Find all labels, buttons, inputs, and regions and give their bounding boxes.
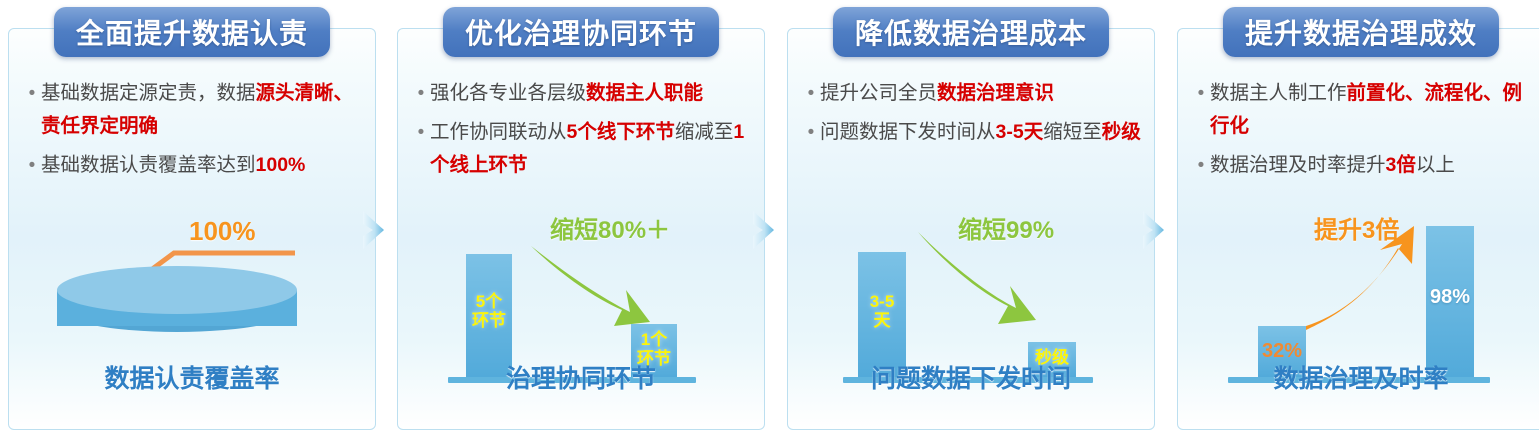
bullet-text: 基础数据定源定责，数据源头清晰、责任界定明确	[41, 77, 365, 143]
list-item: • 工作协同联动从5个线下环节缩减至1个线上环节	[412, 116, 754, 182]
list-item: • 数据治理及时率提升3倍以上	[1192, 149, 1534, 182]
bullet-dot-icon: •	[1192, 77, 1210, 110]
bullet-text: 基础数据认责覆盖率达到100%	[41, 149, 365, 182]
panel-3-chart: 3-5 天 秒级 缩短99%	[788, 204, 1154, 384]
panel-2: 优化治理协同环节 • 强化各专业各层级数据主人职能 • 工作协同联动从5个线下环…	[397, 28, 765, 430]
bullet-text: 数据主人制工作前置化、流程化、例行化	[1210, 77, 1534, 143]
chevron-right-icon-3	[1140, 208, 1170, 252]
bullet-text: 强化各专业各层级数据主人职能	[430, 77, 754, 110]
panel-4-title: 提升数据治理成效	[1223, 7, 1499, 57]
panel-4-foot-label: 数据治理及时率	[1178, 359, 1539, 395]
down-arrow-icon	[398, 204, 766, 384]
cylinder-top	[57, 266, 297, 314]
panel-1: 全面提升数据认责 • 基础数据定源定责，数据源头清晰、责任界定明确 • 基础数据…	[8, 28, 376, 430]
panel-1-foot-label: 数据认责覆盖率	[9, 359, 375, 395]
chevron-right-icon-1	[360, 208, 390, 252]
infographic-board: 全面提升数据认责 • 基础数据定源定责，数据源头清晰、责任界定明确 • 基础数据…	[0, 0, 1539, 440]
list-item: • 强化各专业各层级数据主人职能	[412, 77, 754, 110]
panel-3-title: 降低数据治理成本	[833, 7, 1109, 57]
bullet-dot-icon: •	[1192, 149, 1210, 182]
panel-1-title: 全面提升数据认责	[54, 7, 330, 57]
bullet-dot-icon: •	[802, 77, 820, 110]
list-item: • 提升公司全员数据治理意识	[802, 77, 1144, 110]
list-item: • 问题数据下发时间从3-5天缩短至秒级	[802, 116, 1144, 149]
panel-1-bullets: • 基础数据定源定责，数据源头清晰、责任界定明确 • 基础数据认责覆盖率达到10…	[23, 77, 365, 188]
list-item: • 数据主人制工作前置化、流程化、例行化	[1192, 77, 1534, 143]
panel-1-chart: 100%	[9, 204, 375, 384]
bullet-text: 工作协同联动从5个线下环节缩减至1个线上环节	[430, 116, 754, 182]
panel-4-chart: 32% 98% 提升3倍	[1178, 204, 1539, 384]
panel-4: 提升数据治理成效 • 数据主人制工作前置化、流程化、例行化 • 数据治理及时率提…	[1177, 28, 1539, 430]
panel-2-foot-label: 治理协同环节	[398, 359, 764, 395]
bullet-dot-icon: •	[23, 149, 41, 182]
panel-2-chart: 5个 环节 1个 环节 缩短80%＋	[398, 204, 764, 384]
bullet-dot-icon: •	[23, 77, 41, 110]
list-item: • 基础数据定源定责，数据源头清晰、责任界定明确	[23, 77, 365, 143]
chevron-right-icon-2	[750, 208, 780, 252]
bullet-text: 提升公司全员数据治理意识	[820, 77, 1144, 110]
bullet-dot-icon: •	[802, 116, 820, 149]
down-arrow-icon	[788, 204, 1156, 384]
panel-3-foot-label: 问题数据下发时间	[788, 359, 1154, 395]
panel-2-title: 优化治理协同环节	[443, 7, 719, 57]
bullet-text: 问题数据下发时间从3-5天缩短至秒级	[820, 116, 1144, 149]
panel-3-bullets: • 提升公司全员数据治理意识 • 问题数据下发时间从3-5天缩短至秒级	[802, 77, 1144, 155]
list-item: • 基础数据认责覆盖率达到100%	[23, 149, 365, 182]
bullet-dot-icon: •	[412, 77, 430, 110]
panel-4-bullets: • 数据主人制工作前置化、流程化、例行化 • 数据治理及时率提升3倍以上	[1192, 77, 1534, 188]
bullet-text: 数据治理及时率提升3倍以上	[1210, 149, 1534, 182]
panel-3: 降低数据治理成本 • 提升公司全员数据治理意识 • 问题数据下发时间从3-5天缩…	[787, 28, 1155, 430]
up-arrow-icon	[1178, 204, 1539, 384]
bullet-dot-icon: •	[412, 116, 430, 149]
panel-2-bullets: • 强化各专业各层级数据主人职能 • 工作协同联动从5个线下环节缩减至1个线上环…	[412, 77, 754, 188]
